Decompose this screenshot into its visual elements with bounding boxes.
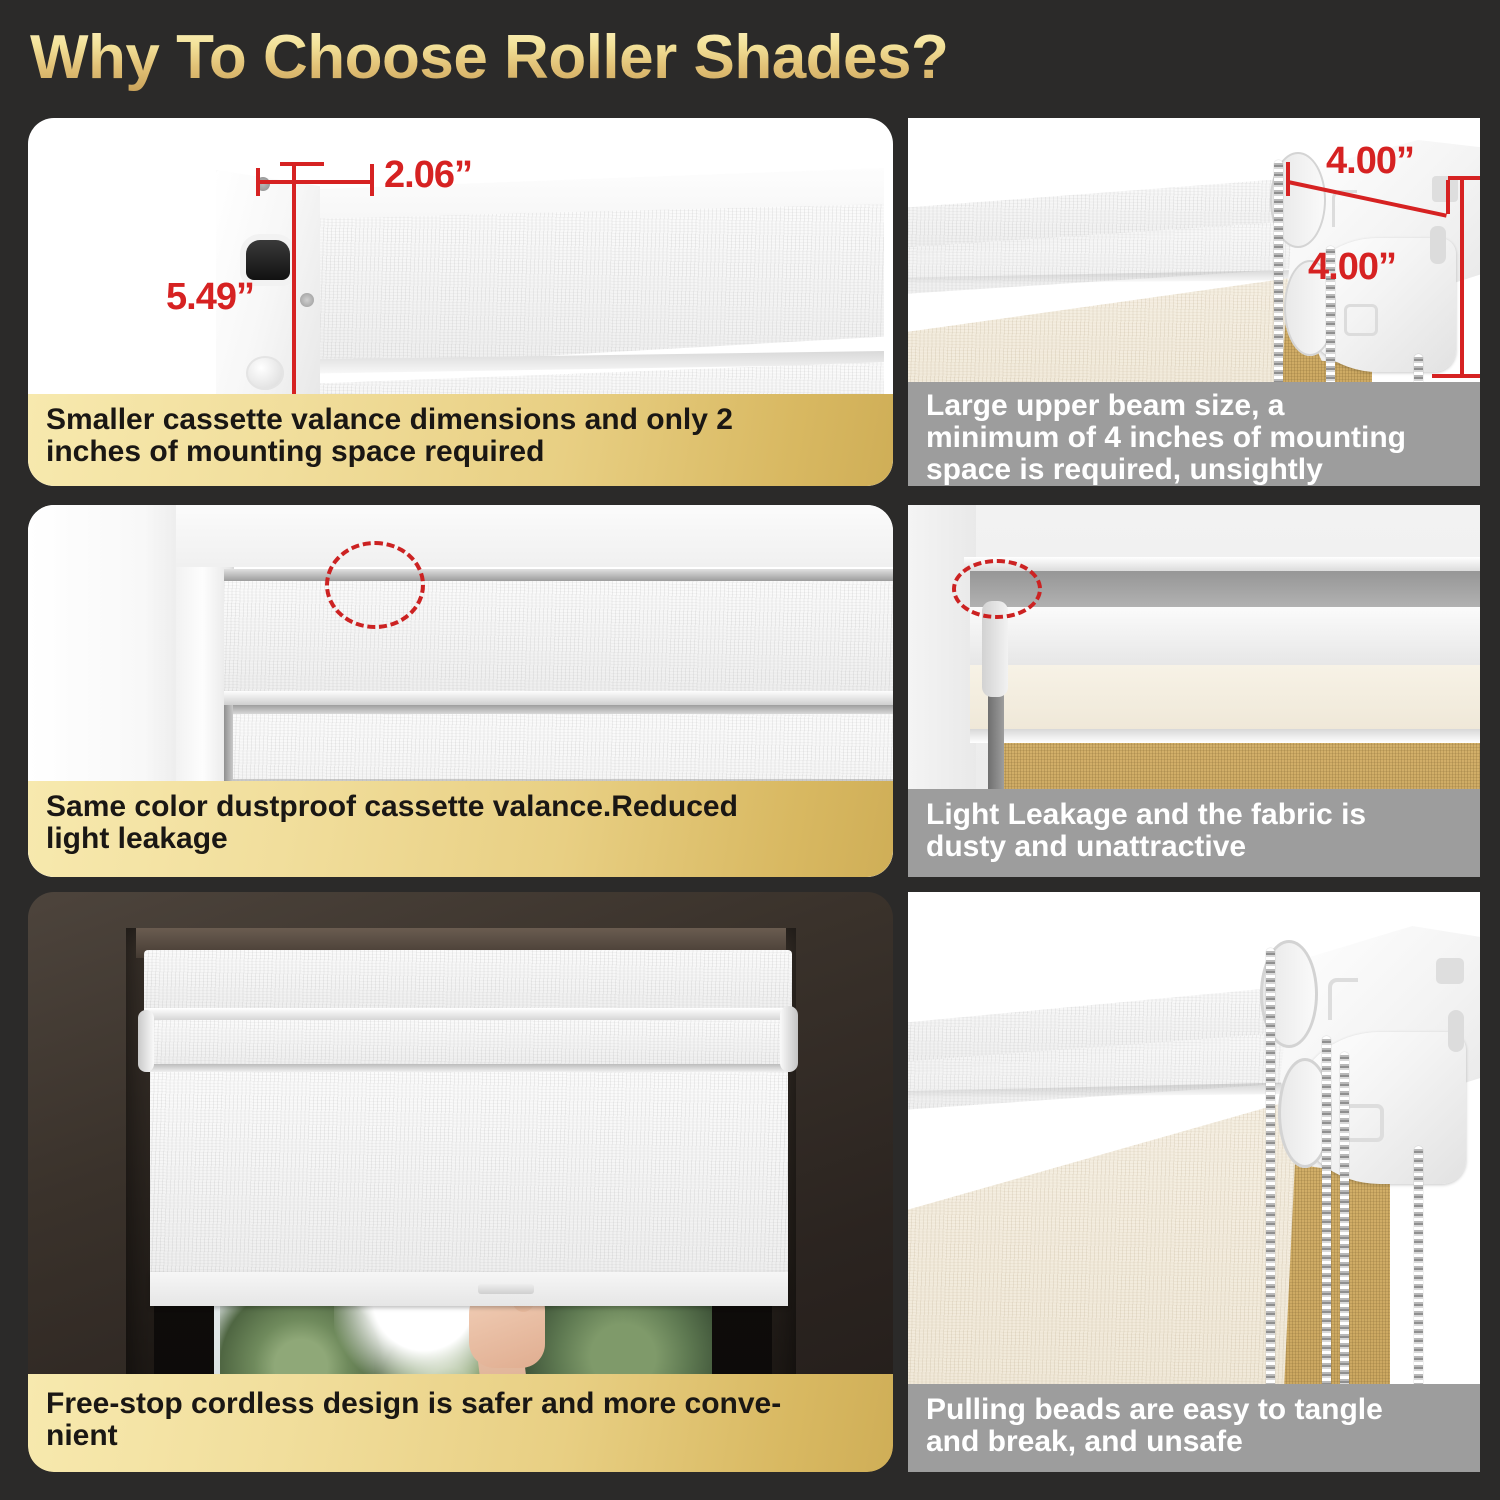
panel-pulling-beads-tangle: Pulling beads are easy to tangle and bre… xyxy=(908,892,1480,1472)
beam-width-dimension-label: 4.00” xyxy=(1326,140,1414,183)
shade-pull-tab xyxy=(478,1284,534,1294)
valance-lower-shadow xyxy=(146,1064,790,1072)
caption-line: Light Leakage and the fabric is xyxy=(926,799,1464,831)
beam-height-tick-top xyxy=(1448,176,1480,180)
head-rail-bottom-edge xyxy=(970,729,1480,743)
caption-line: Pulling beads are easy to tangle xyxy=(926,1394,1464,1426)
height-tick-top xyxy=(280,162,324,166)
head-rail-cream-band xyxy=(970,665,1480,731)
panel-light-leakage-large-gap: Large gap Light Leakage and the fabric i… xyxy=(908,505,1480,877)
caption-free-stop-cordless: Free-stop cordless design is safer and m… xyxy=(28,1374,893,1472)
cassette-valance xyxy=(144,950,792,1014)
end-cap-slot xyxy=(246,240,290,280)
large-bracket-icon-lower xyxy=(1344,1104,1384,1142)
caption-line: space is required, unsightly xyxy=(926,454,1464,486)
panel-cassette-valance-dimensions: 2.06” 5.49” Smaller cassette valance dim… xyxy=(28,118,893,486)
caption-line: Free-stop cordless design is safer and m… xyxy=(46,1388,877,1420)
caption-light-leakage: Light Leakage and the fabric is dusty an… xyxy=(908,789,1480,877)
comparison-grid: 2.06” 5.49” Smaller cassette valance dim… xyxy=(0,0,1500,1500)
panel-free-stop-cordless-window: Free-stop cordless design is safer and m… xyxy=(28,892,893,1472)
caption-line: dusty and unattractive xyxy=(926,831,1464,863)
shade-fabric xyxy=(150,1072,788,1284)
bracket-slot-lower xyxy=(1430,226,1446,264)
caption-line: inches of mounting space required xyxy=(46,436,877,468)
cassette-valance-face xyxy=(224,581,893,697)
window-frame-header xyxy=(176,505,893,567)
caption-pulling-beads: Pulling beads are easy to tangle and bre… xyxy=(908,1384,1480,1472)
width-tick-right xyxy=(370,164,374,196)
valance-end-right xyxy=(780,1006,798,1072)
panel-dustproof-cassette-small-gap: smaller gap Same color dustproof cassett… xyxy=(28,505,893,877)
caption-line: light leakage xyxy=(46,823,877,855)
valance-end-left xyxy=(138,1010,154,1072)
beam-height-dimension-line xyxy=(1460,176,1464,378)
caption-line: nient xyxy=(46,1420,877,1452)
cassette-bottom-edge xyxy=(224,691,893,705)
shade-bottom-rail xyxy=(150,1272,788,1306)
end-cap-screw-lower xyxy=(246,356,284,390)
valance-shadow-line xyxy=(224,705,893,714)
caption-line: Smaller cassette valance dimensions and … xyxy=(46,404,877,436)
beam-width-tick-left xyxy=(1286,162,1290,196)
cassette-valance-lip xyxy=(144,1008,792,1020)
large-bracket-slot-mid xyxy=(1448,1010,1464,1052)
caption-line: and break, and unsafe xyxy=(926,1426,1464,1458)
large-bracket-slot-upper xyxy=(1436,958,1464,984)
large-bracket-icon-upper xyxy=(1328,978,1358,1020)
highlight-circle-seam xyxy=(325,541,425,629)
width-dimension-label: 2.06” xyxy=(384,154,472,197)
beam-height-dimension-label: 4.00” xyxy=(1308,246,1396,289)
panel-large-upper-beam: 4.00” 4.00” Large upper beam size, a min… xyxy=(908,118,1480,486)
head-rail-body xyxy=(970,607,1480,673)
caption-cassette-valance-dimensions: Smaller cassette valance dimensions and … xyxy=(28,394,893,486)
caption-line: Same color dustproof cassette valance.Re… xyxy=(46,791,877,823)
highlight-circle-corner xyxy=(952,559,1042,619)
end-cap-screw-mid xyxy=(300,293,314,307)
beam-width-tick-right xyxy=(1446,180,1450,214)
caption-large-upper-beam: Large upper beam size, a minimum of 4 in… xyxy=(908,382,1480,486)
height-dimension-label: 5.49” xyxy=(166,276,254,319)
head-rail-top xyxy=(964,557,1480,571)
caption-line: Large upper beam size, a xyxy=(926,390,1464,422)
width-tick-left xyxy=(256,168,260,196)
caption-line: minimum of 4 inches of mounting xyxy=(926,422,1464,454)
beam-height-tick-bottom xyxy=(1432,374,1480,378)
bracket-icon-lower xyxy=(1344,304,1378,336)
width-dimension-line xyxy=(256,180,374,184)
valance-lower-band xyxy=(146,1020,790,1066)
caption-dustproof-cassette: Same color dustproof cassette valance.Re… xyxy=(28,781,893,877)
